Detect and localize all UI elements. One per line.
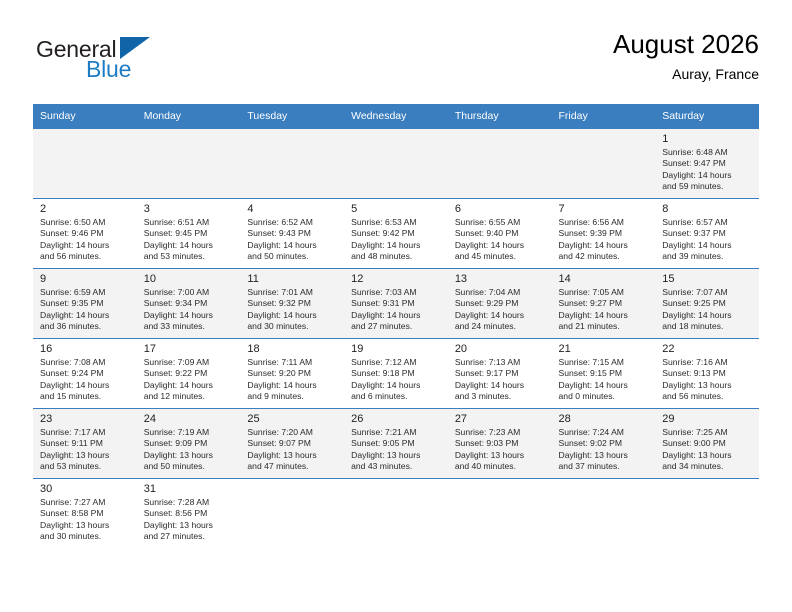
sunrise-text: Sunrise: 7:01 AM [247, 287, 338, 298]
day-cell[interactable]: 4Sunrise: 6:52 AMSunset: 9:43 PMDaylight… [240, 199, 344, 269]
calendar-page: General Blue August 2026 Auray, France S… [0, 0, 792, 612]
weekday-header-sunday: Sunday [33, 104, 137, 129]
calendar-week-row: 1Sunrise: 6:48 AMSunset: 9:47 PMDaylight… [33, 129, 759, 199]
day-cell-inner: 17Sunrise: 7:09 AMSunset: 9:22 PMDayligh… [137, 339, 241, 408]
day-cell-inner: 3Sunrise: 6:51 AMSunset: 9:45 PMDaylight… [137, 199, 241, 268]
sunset-text: Sunset: 9:13 PM [662, 368, 753, 379]
sunrise-text: Sunrise: 7:27 AM [40, 497, 131, 508]
day-cell-inner: 26Sunrise: 7:21 AMSunset: 9:05 PMDayligh… [344, 409, 448, 478]
day-cell[interactable]: 31Sunrise: 7:28 AMSunset: 8:56 PMDayligh… [137, 479, 241, 549]
daylight-text-line1: Daylight: 13 hours [144, 450, 235, 461]
day-cell[interactable]: 30Sunrise: 7:27 AMSunset: 8:58 PMDayligh… [33, 479, 137, 549]
daylight-text-line2: and 30 minutes. [247, 321, 338, 332]
day-number: 29 [662, 412, 753, 426]
sunrise-text: Sunrise: 7:15 AM [559, 357, 650, 368]
sunrise-text: Sunrise: 7:11 AM [247, 357, 338, 368]
day-cell-inner: 16Sunrise: 7:08 AMSunset: 9:24 PMDayligh… [33, 339, 137, 408]
daylight-text-line1: Daylight: 13 hours [662, 380, 753, 391]
day-cell[interactable]: 19Sunrise: 7:12 AMSunset: 9:18 PMDayligh… [344, 339, 448, 409]
sunrise-text: Sunrise: 6:50 AM [40, 217, 131, 228]
day-cell-inner: 1Sunrise: 6:48 AMSunset: 9:47 PMDaylight… [655, 129, 759, 198]
day-number: 14 [559, 272, 650, 286]
weekday-header-friday: Friday [552, 104, 656, 129]
day-cell[interactable]: 26Sunrise: 7:21 AMSunset: 9:05 PMDayligh… [344, 409, 448, 479]
day-cell[interactable]: 18Sunrise: 7:11 AMSunset: 9:20 PMDayligh… [240, 339, 344, 409]
daylight-text-line2: and 39 minutes. [662, 251, 753, 262]
daylight-text-line1: Daylight: 14 hours [144, 310, 235, 321]
daylight-text-line2: and 34 minutes. [662, 461, 753, 472]
sunrise-text: Sunrise: 7:08 AM [40, 357, 131, 368]
sunset-text: Sunset: 9:45 PM [144, 228, 235, 239]
daylight-text-line1: Daylight: 14 hours [40, 240, 131, 251]
weekday-header-row: SundayMondayTuesdayWednesdayThursdayFrid… [33, 104, 759, 129]
day-cell-inner: 20Sunrise: 7:13 AMSunset: 9:17 PMDayligh… [448, 339, 552, 408]
sunrise-text: Sunrise: 7:04 AM [455, 287, 546, 298]
day-number: 23 [40, 412, 131, 426]
day-number: 3 [144, 202, 235, 216]
day-cell-inner: 24Sunrise: 7:19 AMSunset: 9:09 PMDayligh… [137, 409, 241, 478]
daylight-text-line1: Daylight: 14 hours [40, 310, 131, 321]
sunrise-text: Sunrise: 6:55 AM [455, 217, 546, 228]
daylight-text-line2: and 56 minutes. [662, 391, 753, 402]
day-number: 25 [247, 412, 338, 426]
sunset-text: Sunset: 9:42 PM [351, 228, 442, 239]
daylight-text-line1: Daylight: 13 hours [40, 450, 131, 461]
sunset-text: Sunset: 9:35 PM [40, 298, 131, 309]
daylight-text-line2: and 30 minutes. [40, 531, 131, 542]
weekday-header-wednesday: Wednesday [344, 104, 448, 129]
day-number: 11 [247, 272, 338, 286]
day-cell-inner: 25Sunrise: 7:20 AMSunset: 9:07 PMDayligh… [240, 409, 344, 478]
day-number: 6 [455, 202, 546, 216]
daylight-text-line2: and 3 minutes. [455, 391, 546, 402]
weekday-header-saturday: Saturday [655, 104, 759, 129]
day-cell-empty [240, 129, 344, 199]
day-number: 27 [455, 412, 546, 426]
day-cell[interactable]: 11Sunrise: 7:01 AMSunset: 9:32 PMDayligh… [240, 269, 344, 339]
day-cell-empty [344, 129, 448, 199]
daylight-text-line2: and 53 minutes. [144, 251, 235, 262]
day-number: 10 [144, 272, 235, 286]
sunrise-text: Sunrise: 6:57 AM [662, 217, 753, 228]
weekday-header-monday: Monday [137, 104, 241, 129]
sunset-text: Sunset: 9:02 PM [559, 438, 650, 449]
sunset-text: Sunset: 9:29 PM [455, 298, 546, 309]
daylight-text-line1: Daylight: 14 hours [351, 380, 442, 391]
sunrise-text: Sunrise: 6:51 AM [144, 217, 235, 228]
sunrise-text: Sunrise: 7:03 AM [351, 287, 442, 298]
calendar-week-row: 9Sunrise: 6:59 AMSunset: 9:35 PMDaylight… [33, 269, 759, 339]
daylight-text-line2: and 33 minutes. [144, 321, 235, 332]
day-number: 19 [351, 342, 442, 356]
calendar-week-row: 23Sunrise: 7:17 AMSunset: 9:11 PMDayligh… [33, 409, 759, 479]
sunset-text: Sunset: 8:58 PM [40, 508, 131, 519]
sunrise-text: Sunrise: 6:56 AM [559, 217, 650, 228]
day-number: 18 [247, 342, 338, 356]
sunset-text: Sunset: 9:43 PM [247, 228, 338, 239]
sunset-text: Sunset: 9:47 PM [662, 158, 753, 169]
daylight-text-line1: Daylight: 14 hours [662, 240, 753, 251]
day-number: 15 [662, 272, 753, 286]
sunrise-text: Sunrise: 6:53 AM [351, 217, 442, 228]
day-cell-empty [240, 479, 344, 549]
day-cell-inner: 8Sunrise: 6:57 AMSunset: 9:37 PMDaylight… [655, 199, 759, 268]
day-cell-inner: 23Sunrise: 7:17 AMSunset: 9:11 PMDayligh… [33, 409, 137, 478]
sunrise-text: Sunrise: 6:52 AM [247, 217, 338, 228]
day-cell-empty [137, 129, 241, 199]
daylight-text-line1: Daylight: 13 hours [40, 520, 131, 531]
day-cell-inner: 21Sunrise: 7:15 AMSunset: 9:15 PMDayligh… [552, 339, 656, 408]
day-cell[interactable]: 27Sunrise: 7:23 AMSunset: 9:03 PMDayligh… [448, 409, 552, 479]
day-cell-inner: 19Sunrise: 7:12 AMSunset: 9:18 PMDayligh… [344, 339, 448, 408]
day-number: 7 [559, 202, 650, 216]
day-cell[interactable]: 1Sunrise: 6:48 AMSunset: 9:47 PMDaylight… [655, 129, 759, 199]
day-cell-empty [552, 479, 656, 549]
logo-text-blue: Blue [86, 56, 131, 83]
day-cell[interactable]: 15Sunrise: 7:07 AMSunset: 9:25 PMDayligh… [655, 269, 759, 339]
sunrise-text: Sunrise: 7:25 AM [662, 427, 753, 438]
day-cell-inner: 10Sunrise: 7:00 AMSunset: 9:34 PMDayligh… [137, 269, 241, 338]
daylight-text-line1: Daylight: 14 hours [144, 240, 235, 251]
sunset-text: Sunset: 9:15 PM [559, 368, 650, 379]
day-cell[interactable]: 9Sunrise: 6:59 AMSunset: 9:35 PMDaylight… [33, 269, 137, 339]
daylight-text-line1: Daylight: 13 hours [559, 450, 650, 461]
day-cell-inner: 14Sunrise: 7:05 AMSunset: 9:27 PMDayligh… [552, 269, 656, 338]
day-cell[interactable]: 7Sunrise: 6:56 AMSunset: 9:39 PMDaylight… [552, 199, 656, 269]
title-block: August 2026 Auray, France [613, 28, 759, 84]
sunset-text: Sunset: 9:24 PM [40, 368, 131, 379]
day-number: 22 [662, 342, 753, 356]
day-cell[interactable]: 8Sunrise: 6:57 AMSunset: 9:37 PMDaylight… [655, 199, 759, 269]
daylight-text-line1: Daylight: 14 hours [559, 380, 650, 391]
daylight-text-line1: Daylight: 14 hours [40, 380, 131, 391]
sunrise-text: Sunrise: 7:23 AM [455, 427, 546, 438]
sunset-text: Sunset: 9:40 PM [455, 228, 546, 239]
daylight-text-line2: and 50 minutes. [144, 461, 235, 472]
daylight-text-line1: Daylight: 13 hours [247, 450, 338, 461]
sunrise-text: Sunrise: 7:12 AM [351, 357, 442, 368]
daylight-text-line1: Daylight: 13 hours [351, 450, 442, 461]
day-number: 16 [40, 342, 131, 356]
daylight-text-line2: and 15 minutes. [40, 391, 131, 402]
sunrise-text: Sunrise: 7:19 AM [144, 427, 235, 438]
daylight-text-line1: Daylight: 14 hours [351, 240, 442, 251]
day-cell-inner: 11Sunrise: 7:01 AMSunset: 9:32 PMDayligh… [240, 269, 344, 338]
sunrise-text: Sunrise: 7:20 AM [247, 427, 338, 438]
day-number: 2 [40, 202, 131, 216]
day-cell[interactable]: 21Sunrise: 7:15 AMSunset: 9:15 PMDayligh… [552, 339, 656, 409]
day-cell-inner: 29Sunrise: 7:25 AMSunset: 9:00 PMDayligh… [655, 409, 759, 478]
daylight-text-line2: and 21 minutes. [559, 321, 650, 332]
day-cell-empty [552, 129, 656, 199]
day-cell-inner: 22Sunrise: 7:16 AMSunset: 9:13 PMDayligh… [655, 339, 759, 408]
day-cell[interactable]: 10Sunrise: 7:00 AMSunset: 9:34 PMDayligh… [137, 269, 241, 339]
sunrise-text: Sunrise: 6:48 AM [662, 147, 753, 158]
day-cell[interactable]: 3Sunrise: 6:51 AMSunset: 9:45 PMDaylight… [137, 199, 241, 269]
day-number: 1 [662, 132, 753, 146]
daylight-text-line2: and 36 minutes. [40, 321, 131, 332]
day-number: 17 [144, 342, 235, 356]
sunrise-text: Sunrise: 7:24 AM [559, 427, 650, 438]
daylight-text-line1: Daylight: 13 hours [144, 520, 235, 531]
daylight-text-line2: and 37 minutes. [559, 461, 650, 472]
daylight-text-line2: and 6 minutes. [351, 391, 442, 402]
day-number: 13 [455, 272, 546, 286]
day-cell[interactable]: 25Sunrise: 7:20 AMSunset: 9:07 PMDayligh… [240, 409, 344, 479]
day-cell[interactable]: 29Sunrise: 7:25 AMSunset: 9:00 PMDayligh… [655, 409, 759, 479]
sunset-text: Sunset: 9:20 PM [247, 368, 338, 379]
day-number: 28 [559, 412, 650, 426]
day-cell[interactable]: 16Sunrise: 7:08 AMSunset: 9:24 PMDayligh… [33, 339, 137, 409]
day-number: 24 [144, 412, 235, 426]
sunrise-text: Sunrise: 7:16 AM [662, 357, 753, 368]
sunrise-text: Sunrise: 7:13 AM [455, 357, 546, 368]
page-header: General Blue August 2026 Auray, France [0, 0, 792, 104]
daylight-text-line2: and 42 minutes. [559, 251, 650, 262]
sunrise-text: Sunrise: 7:07 AM [662, 287, 753, 298]
daylight-text-line2: and 45 minutes. [455, 251, 546, 262]
daylight-text-line2: and 12 minutes. [144, 391, 235, 402]
daylight-text-line2: and 43 minutes. [351, 461, 442, 472]
daylight-text-line1: Daylight: 14 hours [662, 310, 753, 321]
day-cell-empty [448, 129, 552, 199]
sunrise-text: Sunrise: 6:59 AM [40, 287, 131, 298]
daylight-text-line2: and 0 minutes. [559, 391, 650, 402]
daylight-text-line2: and 9 minutes. [247, 391, 338, 402]
day-number: 20 [455, 342, 546, 356]
daylight-text-line2: and 18 minutes. [662, 321, 753, 332]
sunset-text: Sunset: 9:25 PM [662, 298, 753, 309]
calendar-header-row: SundayMondayTuesdayWednesdayThursdayFrid… [33, 104, 759, 129]
daylight-text-line1: Daylight: 14 hours [351, 310, 442, 321]
sunset-text: Sunset: 9:05 PM [351, 438, 442, 449]
day-cell[interactable]: 2Sunrise: 6:50 AMSunset: 9:46 PMDaylight… [33, 199, 137, 269]
sunset-text: Sunset: 9:17 PM [455, 368, 546, 379]
daylight-text-line2: and 48 minutes. [351, 251, 442, 262]
daylight-text-line2: and 27 minutes. [144, 531, 235, 542]
day-cell[interactable]: 14Sunrise: 7:05 AMSunset: 9:27 PMDayligh… [552, 269, 656, 339]
sunset-text: Sunset: 9:34 PM [144, 298, 235, 309]
daylight-text-line2: and 47 minutes. [247, 461, 338, 472]
weekday-header-tuesday: Tuesday [240, 104, 344, 129]
day-cell[interactable]: 23Sunrise: 7:17 AMSunset: 9:11 PMDayligh… [33, 409, 137, 479]
daylight-text-line1: Daylight: 14 hours [559, 240, 650, 251]
day-number: 12 [351, 272, 442, 286]
day-number: 9 [40, 272, 131, 286]
sunset-text: Sunset: 9:00 PM [662, 438, 753, 449]
sunrise-text: Sunrise: 7:21 AM [351, 427, 442, 438]
day-cell-inner: 6Sunrise: 6:55 AMSunset: 9:40 PMDaylight… [448, 199, 552, 268]
page-subtitle: Auray, France [613, 64, 759, 84]
day-number: 5 [351, 202, 442, 216]
daylight-text-line2: and 50 minutes. [247, 251, 338, 262]
day-cell-inner: 30Sunrise: 7:27 AMSunset: 8:58 PMDayligh… [33, 479, 137, 548]
daylight-text-line1: Daylight: 14 hours [455, 240, 546, 251]
daylight-text-line2: and 53 minutes. [40, 461, 131, 472]
day-cell-inner: 7Sunrise: 6:56 AMSunset: 9:39 PMDaylight… [552, 199, 656, 268]
daylight-text-line2: and 27 minutes. [351, 321, 442, 332]
day-cell[interactable]: 6Sunrise: 6:55 AMSunset: 9:40 PMDaylight… [448, 199, 552, 269]
day-cell[interactable]: 22Sunrise: 7:16 AMSunset: 9:13 PMDayligh… [655, 339, 759, 409]
calendar-table: SundayMondayTuesdayWednesdayThursdayFrid… [33, 104, 759, 548]
calendar-week-row: 30Sunrise: 7:27 AMSunset: 8:58 PMDayligh… [33, 479, 759, 549]
daylight-text-line1: Daylight: 13 hours [662, 450, 753, 461]
sunset-text: Sunset: 9:09 PM [144, 438, 235, 449]
general-blue-logo[interactable]: General Blue [36, 36, 206, 88]
day-cell[interactable]: 12Sunrise: 7:03 AMSunset: 9:31 PMDayligh… [344, 269, 448, 339]
sunset-text: Sunset: 9:39 PM [559, 228, 650, 239]
sunset-text: Sunset: 9:22 PM [144, 368, 235, 379]
sunrise-text: Sunrise: 7:05 AM [559, 287, 650, 298]
day-cell-empty [344, 479, 448, 549]
sunset-text: Sunset: 8:56 PM [144, 508, 235, 519]
day-cell[interactable]: 13Sunrise: 7:04 AMSunset: 9:29 PMDayligh… [448, 269, 552, 339]
day-number: 31 [144, 482, 235, 496]
sunrise-text: Sunrise: 7:28 AM [144, 497, 235, 508]
daylight-text-line2: and 59 minutes. [662, 181, 753, 192]
day-cell-empty [448, 479, 552, 549]
weekday-header-thursday: Thursday [448, 104, 552, 129]
day-cell-empty [655, 479, 759, 549]
sunset-text: Sunset: 9:18 PM [351, 368, 442, 379]
day-cell-inner: 27Sunrise: 7:23 AMSunset: 9:03 PMDayligh… [448, 409, 552, 478]
daylight-text-line1: Daylight: 14 hours [559, 310, 650, 321]
day-cell-inner: 15Sunrise: 7:07 AMSunset: 9:25 PMDayligh… [655, 269, 759, 338]
sunset-text: Sunset: 9:27 PM [559, 298, 650, 309]
day-cell[interactable]: 5Sunrise: 6:53 AMSunset: 9:42 PMDaylight… [344, 199, 448, 269]
day-cell-inner: 12Sunrise: 7:03 AMSunset: 9:31 PMDayligh… [344, 269, 448, 338]
sunset-text: Sunset: 9:03 PM [455, 438, 546, 449]
day-cell-inner: 5Sunrise: 6:53 AMSunset: 9:42 PMDaylight… [344, 199, 448, 268]
daylight-text-line1: Daylight: 14 hours [455, 380, 546, 391]
sunset-text: Sunset: 9:31 PM [351, 298, 442, 309]
sunset-text: Sunset: 9:37 PM [662, 228, 753, 239]
sunrise-text: Sunrise: 7:17 AM [40, 427, 131, 438]
day-cell[interactable]: 17Sunrise: 7:09 AMSunset: 9:22 PMDayligh… [137, 339, 241, 409]
day-cell-inner: 4Sunrise: 6:52 AMSunset: 9:43 PMDaylight… [240, 199, 344, 268]
day-cell[interactable]: 28Sunrise: 7:24 AMSunset: 9:02 PMDayligh… [552, 409, 656, 479]
sunset-text: Sunset: 9:32 PM [247, 298, 338, 309]
daylight-text-line1: Daylight: 14 hours [247, 310, 338, 321]
daylight-text-line1: Daylight: 14 hours [144, 380, 235, 391]
day-cell-inner: 18Sunrise: 7:11 AMSunset: 9:20 PMDayligh… [240, 339, 344, 408]
calendar-body: 1Sunrise: 6:48 AMSunset: 9:47 PMDaylight… [33, 129, 759, 549]
day-number: 4 [247, 202, 338, 216]
day-number: 8 [662, 202, 753, 216]
daylight-text-line1: Daylight: 14 hours [455, 310, 546, 321]
day-cell-inner: 2Sunrise: 6:50 AMSunset: 9:46 PMDaylight… [33, 199, 137, 268]
daylight-text-line1: Daylight: 14 hours [662, 170, 753, 181]
page-title: August 2026 [613, 28, 759, 60]
day-number: 26 [351, 412, 442, 426]
daylight-text-line1: Daylight: 13 hours [455, 450, 546, 461]
day-number: 21 [559, 342, 650, 356]
daylight-text-line1: Daylight: 14 hours [247, 240, 338, 251]
day-cell-inner: 31Sunrise: 7:28 AMSunset: 8:56 PMDayligh… [137, 479, 241, 548]
sunset-text: Sunset: 9:11 PM [40, 438, 131, 449]
day-cell-inner: 28Sunrise: 7:24 AMSunset: 9:02 PMDayligh… [552, 409, 656, 478]
daylight-text-line2: and 24 minutes. [455, 321, 546, 332]
day-cell-empty [33, 129, 137, 199]
day-cell-inner: 9Sunrise: 6:59 AMSunset: 9:35 PMDaylight… [33, 269, 137, 338]
daylight-text-line2: and 56 minutes. [40, 251, 131, 262]
day-cell-inner: 13Sunrise: 7:04 AMSunset: 9:29 PMDayligh… [448, 269, 552, 338]
sunset-text: Sunset: 9:07 PM [247, 438, 338, 449]
calendar-week-row: 16Sunrise: 7:08 AMSunset: 9:24 PMDayligh… [33, 339, 759, 409]
daylight-text-line2: and 40 minutes. [455, 461, 546, 472]
sunrise-text: Sunrise: 7:09 AM [144, 357, 235, 368]
day-cell[interactable]: 24Sunrise: 7:19 AMSunset: 9:09 PMDayligh… [137, 409, 241, 479]
day-cell[interactable]: 20Sunrise: 7:13 AMSunset: 9:17 PMDayligh… [448, 339, 552, 409]
day-number: 30 [40, 482, 131, 496]
sunrise-text: Sunrise: 7:00 AM [144, 287, 235, 298]
sunset-text: Sunset: 9:46 PM [40, 228, 131, 239]
calendar-week-row: 2Sunrise: 6:50 AMSunset: 9:46 PMDaylight… [33, 199, 759, 269]
daylight-text-line1: Daylight: 14 hours [247, 380, 338, 391]
